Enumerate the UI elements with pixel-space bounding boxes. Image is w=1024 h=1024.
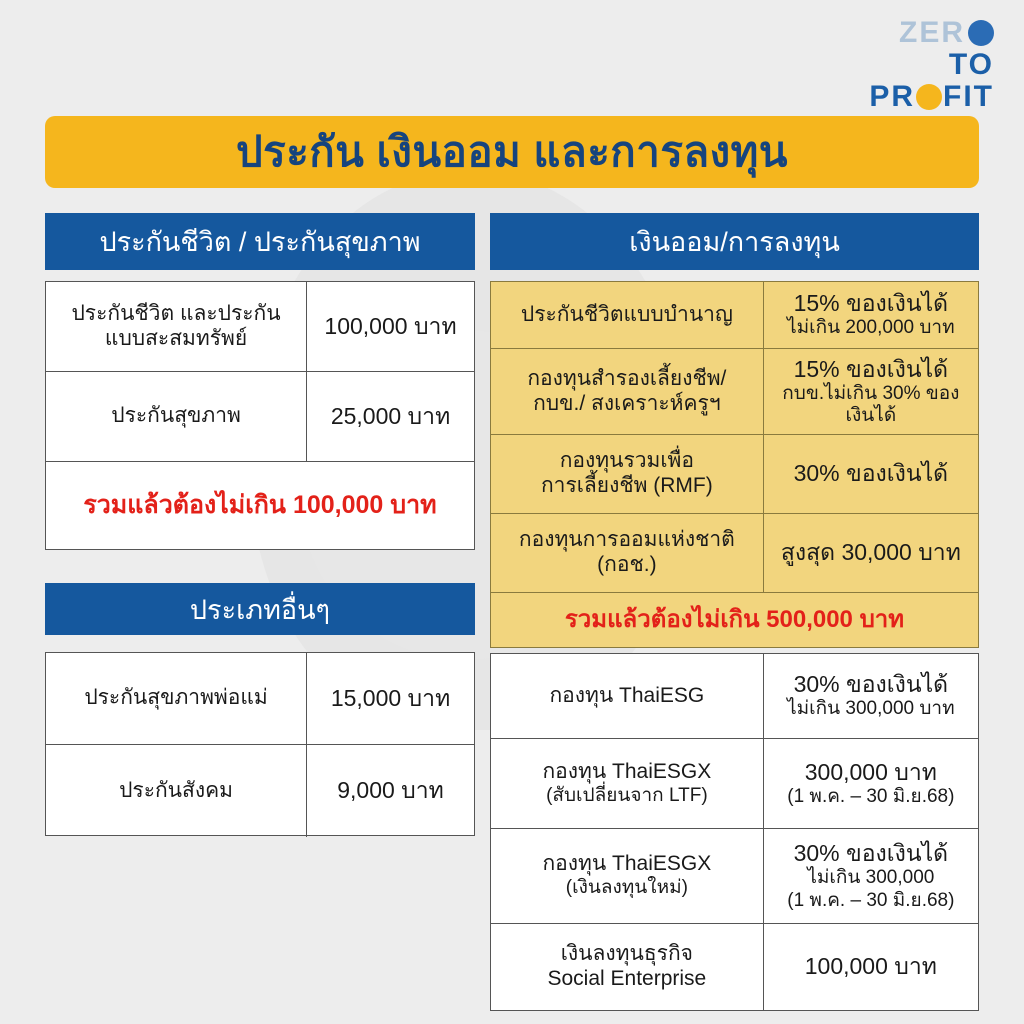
title-banner: ประกัน เงินออม และการลงทุน bbox=[45, 116, 979, 188]
value-text: 25,000 บาท bbox=[331, 403, 450, 430]
cell-label: เงินลงทุนธุรกิจ Social Enterprise bbox=[491, 924, 764, 1010]
section-header-other-types-label: ประเภทอื่นๆ bbox=[190, 588, 330, 631]
value-line-2: ไม่เกิน 300,000 bbox=[807, 867, 934, 889]
cell-label: ประกันสังคม bbox=[46, 745, 307, 837]
page-title: ประกัน เงินออม และการลงทุน bbox=[236, 119, 788, 185]
label-line-1: กองทุน ThaiESGX bbox=[542, 760, 711, 785]
logo-text-to: TO bbox=[949, 50, 994, 80]
label-line-1: กองทุนสำรองเลี้ยงชีพ/ bbox=[527, 367, 726, 392]
value-line-2: ไม่เกิน 200,000 บาท bbox=[787, 317, 955, 339]
label-line-2: แบบสะสมทรัพย์ bbox=[105, 327, 247, 352]
cell-value: 300,000 บาท (1 พ.ค. – 30 มิ.ย.68) bbox=[764, 739, 978, 828]
brand-logo: ZER TO PR FIT bbox=[834, 18, 994, 110]
table-row: กองทุนสำรองเลี้ยงชีพ/ กบข./ สงเคราะห์ครู… bbox=[491, 349, 978, 435]
logo-o-circle-blue-icon bbox=[968, 20, 994, 46]
value-line-2: ไม่เกิน 300,000 บาท bbox=[787, 698, 955, 720]
table-row-total: รวมแล้วต้องไม่เกิน 100,000 บาท bbox=[46, 462, 474, 549]
label-line-2: (กอช.) bbox=[597, 553, 656, 578]
cell-label: กองทุนรวมเพื่อ การเลี้ยงชีพ (RMF) bbox=[491, 435, 764, 513]
cell-value: 30% ของเงินได้ bbox=[764, 435, 978, 513]
value-line-2: กบข.ไม่เกิน 30% ของ bbox=[782, 383, 959, 405]
logo-text-fit: FIT bbox=[943, 82, 994, 112]
table-life-health: ประกันชีวิต และประกัน แบบสะสมทรัพย์ 100,… bbox=[45, 281, 475, 550]
cell-value: 30% ของเงินได้ ไม่เกิน 300,000 บาท bbox=[764, 654, 978, 738]
section-header-savings-investment-label: เงินออม/การลงทุน bbox=[629, 220, 840, 263]
label-line-1: กองทุน ThaiESGX bbox=[542, 852, 711, 877]
table-savings-white: กองทุน ThaiESG 30% ของเงินได้ ไม่เกิน 30… bbox=[490, 653, 979, 1011]
table-row: กองทุนรวมเพื่อ การเลี้ยงชีพ (RMF) 30% ขอ… bbox=[491, 435, 978, 514]
label-line-1: ประกันชีวิต และประกัน bbox=[71, 302, 280, 327]
cell-value: สูงสุด 30,000 บาท bbox=[764, 514, 978, 592]
section-header-savings-investment: เงินออม/การลงทุน bbox=[490, 213, 979, 270]
cell-label: กองทุนสำรองเลี้ยงชีพ/ กบข./ สงเคราะห์ครู… bbox=[491, 349, 764, 434]
cell-value: 9,000 บาท bbox=[307, 745, 474, 837]
cell-label: กองทุนการออมแห่งชาติ (กอช.) bbox=[491, 514, 764, 592]
cell-value: 30% ของเงินได้ ไม่เกิน 300,000 (1 พ.ค. –… bbox=[764, 829, 978, 923]
cell-value: 100,000 บาท bbox=[764, 924, 978, 1010]
label-line-1: เงินลงทุนธุรกิจ bbox=[561, 942, 693, 967]
cell-label: กองทุน ThaiESGX (เงินลงทุนใหม่) bbox=[491, 829, 764, 923]
label-line-1: ประกันชีวิตแบบบำนาญ bbox=[521, 303, 733, 328]
cell-label: ประกันชีวิตแบบบำนาญ bbox=[491, 282, 764, 348]
value-line-1: 15% ของเงินได้ bbox=[794, 356, 949, 383]
value-line-1: 30% ของเงินได้ bbox=[794, 460, 949, 487]
logo-line-profit: PR FIT bbox=[869, 82, 994, 112]
value-line-1: 100,000 บาท bbox=[805, 953, 937, 980]
value-line-3: (1 พ.ค. – 30 มิ.ย.68) bbox=[787, 890, 954, 912]
cell-value: 15,000 บาท bbox=[307, 653, 474, 744]
logo-line-zero: ZER bbox=[899, 18, 994, 48]
value-text: 15,000 บาท bbox=[331, 685, 450, 712]
table-row: ประกันสังคม 9,000 บาท bbox=[46, 745, 474, 837]
label-line-1: ประกันสุขภาพ bbox=[111, 404, 241, 429]
label-line-2: กบข./ สงเคราะห์ครูฯ bbox=[533, 392, 721, 417]
cell-value: 100,000 บาท bbox=[307, 282, 474, 371]
cell-total: รวมแล้วต้องไม่เกิน 500,000 บาท bbox=[491, 593, 978, 647]
section-header-life-health: ประกันชีวิต / ประกันสุขภาพ bbox=[45, 213, 475, 270]
table-row-total: รวมแล้วต้องไม่เกิน 500,000 บาท bbox=[491, 593, 978, 647]
label-line-2: การเลี้ยงชีพ (RMF) bbox=[541, 474, 713, 499]
value-line-2: (1 พ.ค. – 30 มิ.ย.68) bbox=[787, 786, 954, 808]
value-line-1: 300,000 บาท bbox=[805, 759, 937, 786]
label-line-2: (สับเปลี่ยนจาก LTF) bbox=[546, 785, 708, 807]
table-row: ประกันชีวิต และประกัน แบบสะสมทรัพย์ 100,… bbox=[46, 282, 474, 372]
cell-label: กองทุน ThaiESG bbox=[491, 654, 764, 738]
label-line-1: กองทุนการออมแห่งชาติ bbox=[519, 528, 735, 553]
value-line-3: เงินได้ bbox=[846, 405, 897, 427]
label-line-1: กองทุนรวมเพื่อ bbox=[560, 449, 694, 474]
value-text: 100,000 บาท bbox=[324, 313, 456, 340]
section-header-other-types: ประเภทอื่นๆ bbox=[45, 583, 475, 635]
table-row: ประกันสุขภาพพ่อแม่ 15,000 บาท bbox=[46, 653, 474, 745]
label-line-1: กองทุน ThaiESG bbox=[549, 684, 704, 709]
table-row: ประกันชีวิตแบบบำนาญ 15% ของเงินได้ ไม่เก… bbox=[491, 282, 978, 349]
label-line-2: (เงินลงทุนใหม่) bbox=[566, 877, 688, 899]
table-savings-yellow: ประกันชีวิตแบบบำนาญ 15% ของเงินได้ ไม่เก… bbox=[490, 281, 979, 648]
cell-label: ประกันสุขภาพพ่อแม่ bbox=[46, 653, 307, 744]
cell-value: 15% ของเงินได้ กบข.ไม่เกิน 30% ของ เงินไ… bbox=[764, 349, 978, 434]
label-line-1: ประกันสุขภาพพ่อแม่ bbox=[84, 686, 267, 711]
value-line-1: สูงสุด 30,000 บาท bbox=[781, 539, 961, 566]
total-note: รวมแล้วต้องไม่เกิน 100,000 บาท bbox=[83, 491, 436, 521]
total-note: รวมแล้วต้องไม่เกิน 500,000 บาท bbox=[565, 606, 904, 634]
cell-label: ประกันสุขภาพ bbox=[46, 372, 307, 461]
section-header-life-health-label: ประกันชีวิต / ประกันสุขภาพ bbox=[99, 220, 420, 263]
cell-total: รวมแล้วต้องไม่เกิน 100,000 บาท bbox=[46, 462, 474, 549]
table-row: กองทุน ThaiESG 30% ของเงินได้ ไม่เกิน 30… bbox=[491, 654, 978, 739]
table-row: กองทุน ThaiESGX (เงินลงทุนใหม่) 30% ของเ… bbox=[491, 829, 978, 924]
cell-label: ประกันชีวิต และประกัน แบบสะสมทรัพย์ bbox=[46, 282, 307, 371]
table-row: ประกันสุขภาพ 25,000 บาท bbox=[46, 372, 474, 462]
table-row: เงินลงทุนธุรกิจ Social Enterprise 100,00… bbox=[491, 924, 978, 1010]
logo-line-to: TO bbox=[949, 50, 994, 80]
label-line-1: ประกันสังคม bbox=[119, 779, 233, 804]
logo-text-pr: PR bbox=[869, 82, 915, 112]
value-line-1: 30% ของเงินได้ bbox=[794, 671, 949, 698]
table-row: กองทุน ThaiESGX (สับเปลี่ยนจาก LTF) 300,… bbox=[491, 739, 978, 829]
logo-text-zer: ZER bbox=[899, 18, 965, 48]
cell-label: กองทุน ThaiESGX (สับเปลี่ยนจาก LTF) bbox=[491, 739, 764, 828]
value-line-1: 30% ของเงินได้ bbox=[794, 840, 949, 867]
label-line-2: Social Enterprise bbox=[547, 967, 706, 992]
infographic-page: ZER TO PR FIT ประกัน เงินออม และการลงทุน… bbox=[0, 0, 1024, 1024]
table-row: กองทุนการออมแห่งชาติ (กอช.) สูงสุด 30,00… bbox=[491, 514, 978, 593]
value-text: 9,000 บาท bbox=[337, 777, 444, 804]
table-other-types: ประกันสุขภาพพ่อแม่ 15,000 บาท ประกันสังค… bbox=[45, 652, 475, 836]
cell-value: 15% ของเงินได้ ไม่เกิน 200,000 บาท bbox=[764, 282, 978, 348]
cell-value: 25,000 บาท bbox=[307, 372, 474, 461]
value-line-1: 15% ของเงินได้ bbox=[794, 290, 949, 317]
logo-o-circle-amber-icon bbox=[916, 84, 942, 110]
